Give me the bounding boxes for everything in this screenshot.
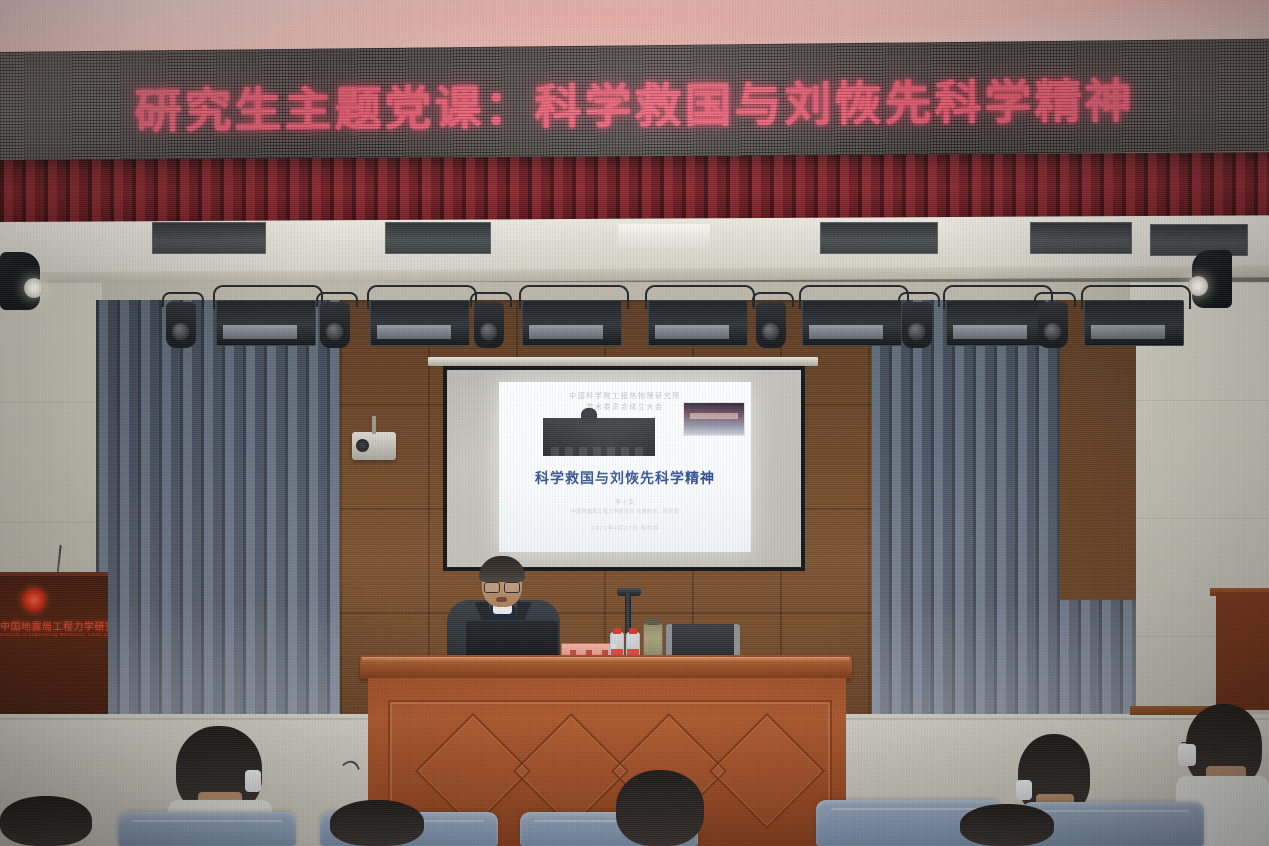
glasses-icon <box>484 582 520 591</box>
ceiling-vent <box>820 222 938 254</box>
lecture-hall-photo: 研究生主题党课：科学救国与刘恢先科学精神 <box>0 0 1269 846</box>
ceiling-projector <box>352 432 396 460</box>
ceiling-vent <box>152 222 266 254</box>
lamp-bulb <box>24 278 44 298</box>
projection-screen-housing <box>428 357 818 366</box>
blue-stage-curtain-left <box>96 300 344 720</box>
speaker-mouth <box>496 597 507 602</box>
lamp-bulb <box>1188 276 1208 296</box>
panel-stage-light <box>216 300 316 346</box>
audience-member-head <box>960 804 1054 846</box>
ceiling-vent <box>385 222 491 254</box>
corner-wall-lamp <box>0 252 40 310</box>
podium-name-en: Institute of Engineering Mechanics, Chin… <box>0 633 108 638</box>
ceiling-vent <box>1150 224 1248 256</box>
audience-member-head <box>616 770 704 846</box>
panel-stage-light <box>1084 300 1184 346</box>
par-can-light <box>902 292 932 348</box>
ceiling-vent <box>1030 222 1132 254</box>
panel-stage-light <box>522 300 622 346</box>
lectern-podium: 中国地震局工程力学研究所 Institute of Engineering Me… <box>0 572 108 724</box>
screen-glare <box>447 370 801 567</box>
led-banner-screen: 研究生主题党课：科学救国与刘恢先科学精神 <box>0 39 1269 164</box>
face-mask <box>1178 744 1196 766</box>
audience-member-head <box>330 800 424 846</box>
projector-mount <box>372 416 376 434</box>
corner-wall-lamp <box>1192 250 1232 308</box>
par-can-light <box>474 292 504 348</box>
projection-screen: 中国科学院工程热物理研究所 学术委员会成立大会 科学救国与刘恢先科学精神 李小军… <box>447 370 801 567</box>
face-mask <box>245 770 261 792</box>
ceiling-panel-light <box>618 224 710 248</box>
led-screen-sheen <box>0 39 1269 164</box>
rostrum-desk-highlight <box>362 657 850 662</box>
panel-stage-light <box>370 300 470 346</box>
panel-stage-light <box>648 300 748 346</box>
par-can-light <box>756 292 786 348</box>
side-table <box>1216 592 1269 710</box>
audience-member-head <box>0 796 92 846</box>
face-mask <box>1016 780 1032 800</box>
par-can-light <box>1038 292 1068 348</box>
par-can-light <box>320 292 350 348</box>
panel-stage-light <box>946 300 1046 346</box>
panel-stage-light <box>802 300 902 346</box>
institute-emblem-icon <box>22 588 46 612</box>
par-can-light <box>166 292 196 348</box>
audience-seat <box>118 812 296 846</box>
glasses-icon <box>1181 742 1198 747</box>
projector-lens-icon <box>356 439 369 452</box>
podium-name-cn: 中国地震局工程力学研究所 <box>0 618 108 633</box>
